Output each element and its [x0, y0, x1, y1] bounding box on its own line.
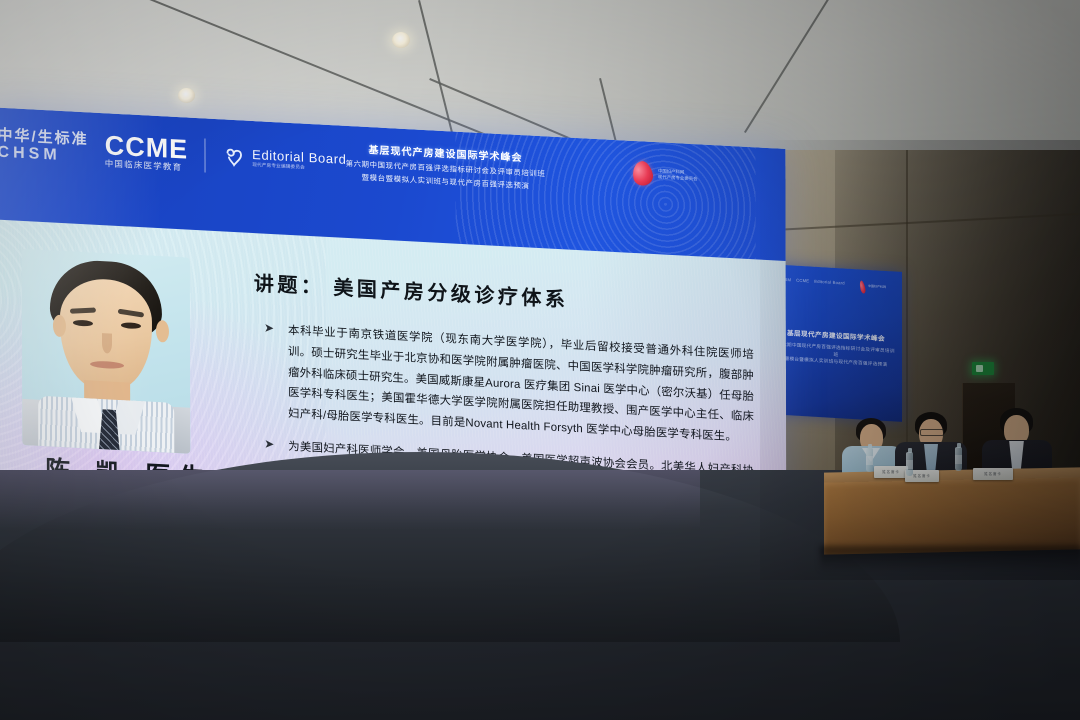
chsm-english: CHSM: [0, 144, 89, 167]
water-bottle: [955, 447, 962, 471]
water-bottle: [866, 448, 873, 472]
side-logo-editorial-board: Editorial Board: [814, 279, 844, 286]
ceiling-light: [392, 32, 410, 48]
portrait-nose: [102, 333, 112, 354]
logo-chsm: 中华/生标准 CHSM: [0, 126, 89, 166]
portrait-ear-right: [156, 320, 169, 343]
placard-text: 姓名席卡: [874, 466, 908, 478]
flower-emblem-icon: [630, 160, 655, 187]
logo-ccme: CCME 中国临床医学教育: [105, 131, 189, 173]
exit-sign-icon: [972, 362, 994, 375]
bullet-arrow-icon: ➤: [264, 322, 274, 335]
side-panel-emblem: 中国妇产科网: [860, 278, 886, 296]
bullet-arrow-icon: ➤: [264, 437, 274, 450]
side-led-panel: CHSM CCME Editorial Board 中国妇产科网 基层现代产房建…: [770, 264, 902, 422]
slide-title: 讲题： 美国产房分级诊疗体系: [254, 267, 569, 312]
heart-swirl-icon: [221, 143, 247, 170]
placard-text: 姓名席卡: [973, 468, 1013, 480]
list-item: ➤ 本科毕业于南京铁道医学院（现东南大学医学院），毕业后留校接受普通外科住院医师…: [264, 320, 754, 449]
ceiling-light: [178, 88, 195, 103]
logo-divider: [204, 138, 205, 172]
side-logo-ccme: CCME: [796, 278, 809, 284]
panel-table-shadow: [820, 546, 1080, 572]
side-panel-titles: 基层现代产房建设国际学术峰会 第六期中国现代产房百强评选指标研讨会及评审员培训班…: [770, 326, 902, 369]
ccme-sub: 中国临床医学教育: [105, 160, 189, 173]
glasses-icon: [920, 429, 944, 436]
bullet-text: 本科毕业于南京铁道医学院（现东南大学医学院），毕业后留校接受普通外科住院医师培训…: [288, 321, 754, 449]
emblem-text-line2: 现代产房专业委员会: [658, 174, 698, 182]
name-placard: 姓名席卡: [973, 468, 1013, 480]
side-panel-logo-row: CHSM CCME Editorial Board: [778, 277, 845, 286]
floor-light-spill: [0, 470, 700, 530]
conference-hall-screenshot: CHSM CCME Editorial Board 中国妇产科网 基层现代产房建…: [0, 0, 1080, 720]
name-placard: 姓名席卡: [874, 466, 908, 478]
portrait-ear-left: [53, 315, 66, 338]
emblem-text-block: 中国妇产科网 现代产房专业委员会: [658, 168, 698, 182]
conference-emblem: 中国妇产科网 现代产房专业委员会: [633, 161, 698, 188]
panel-table-front: [824, 477, 1080, 554]
water-bottle: [906, 452, 913, 476]
speaker-portrait-photo: [22, 249, 191, 454]
flower-emblem-icon: [859, 280, 867, 294]
side-emblem-text: 中国妇产科网: [868, 285, 886, 290]
